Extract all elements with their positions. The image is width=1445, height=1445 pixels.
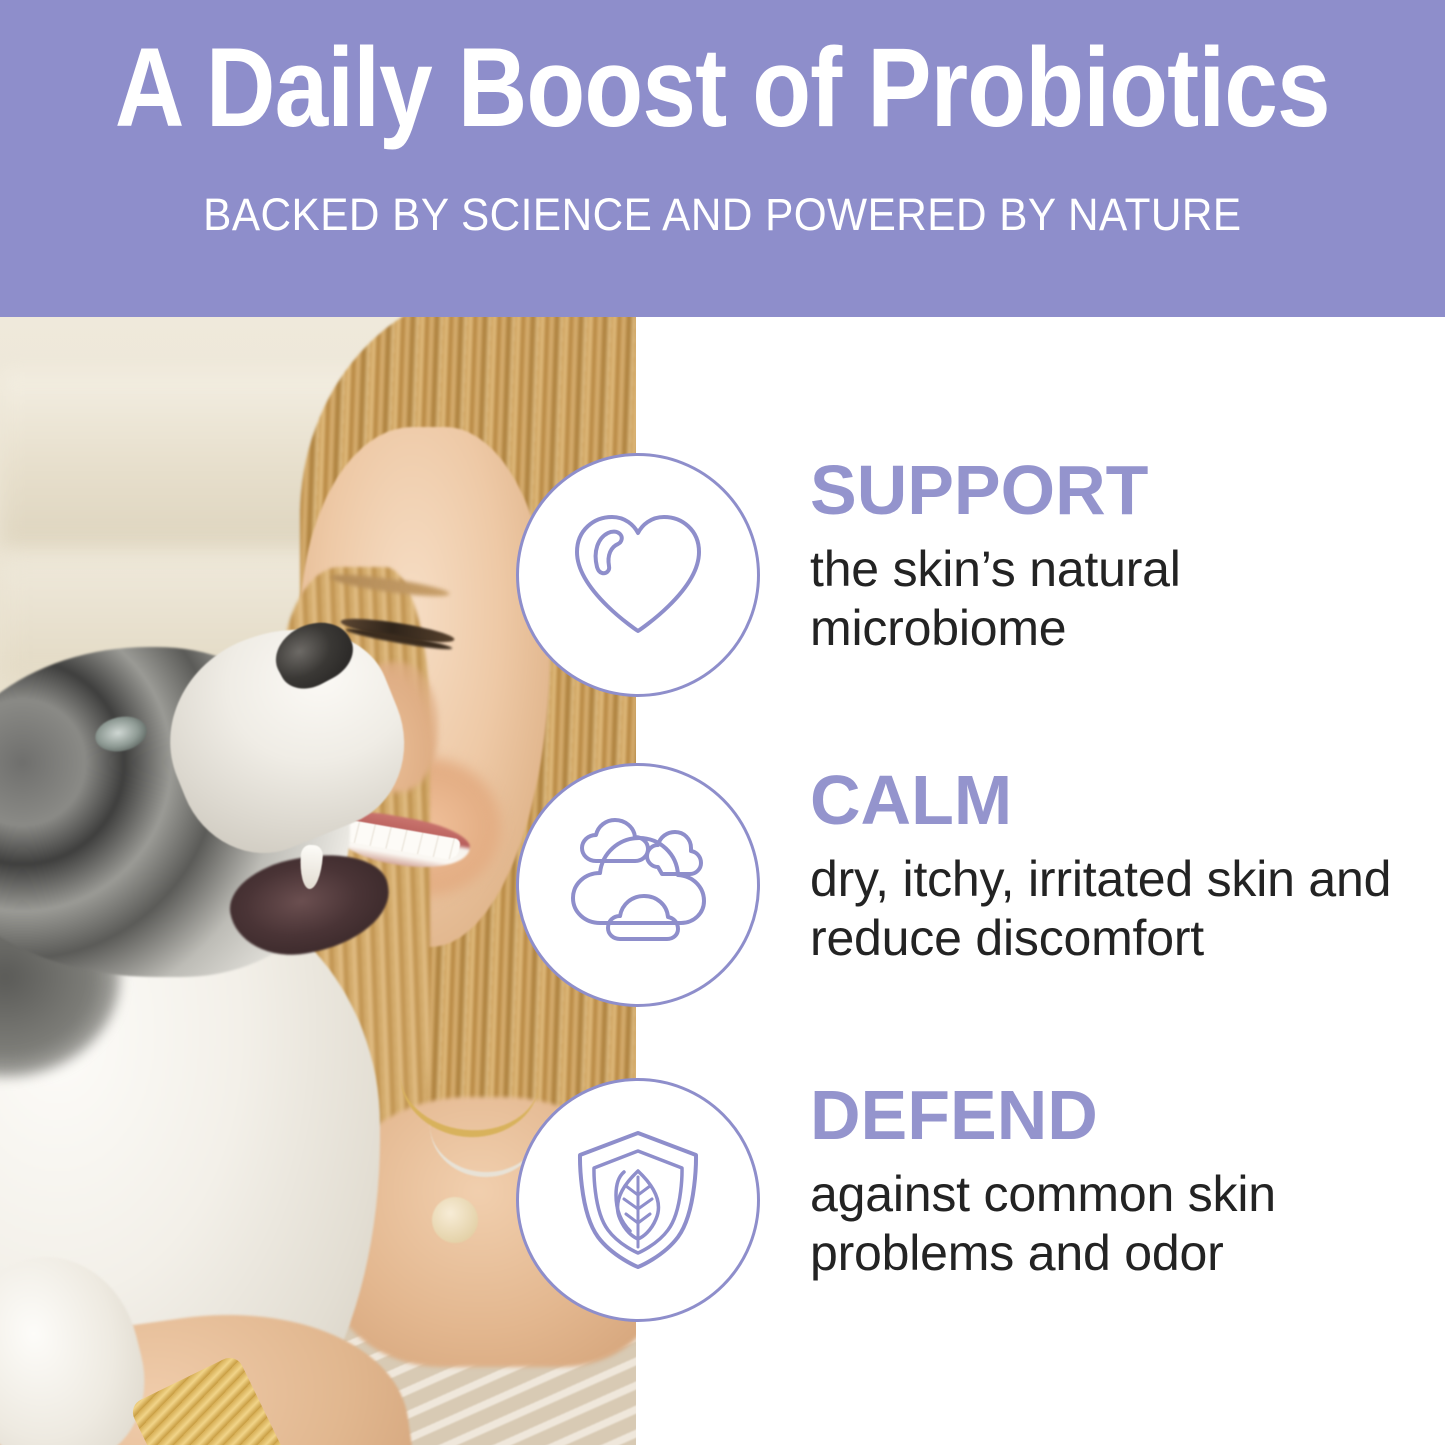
feature-title: CALM bbox=[810, 765, 1410, 836]
feature-title: SUPPORT bbox=[810, 455, 1410, 526]
promo-infographic: A Daily Boost of Probiotics BACKED BY SC… bbox=[0, 0, 1445, 1445]
feature-icon-circle bbox=[516, 763, 760, 1007]
feature-text-block: SUPPORT the skin’s natural microbiome bbox=[810, 453, 1410, 658]
page-title: A Daily Boost of Probiotics bbox=[115, 32, 1330, 144]
feature-title: DEFEND bbox=[810, 1080, 1410, 1151]
feature-description: the skin’s natural microbiome bbox=[810, 540, 1410, 658]
page-subtitle: BACKED BY SCIENCE AND POWERED BY NATURE bbox=[203, 192, 1241, 237]
feature-item-support: SUPPORT the skin’s natural microbiome bbox=[516, 453, 1416, 697]
feature-text-block: DEFEND against common skin problems and … bbox=[810, 1078, 1410, 1283]
feature-list: SUPPORT the skin’s natural microbiome bbox=[0, 317, 1445, 1445]
feature-text-block: CALM dry, itchy, irritated skin and redu… bbox=[810, 763, 1410, 968]
feature-description: dry, itchy, irritated skin and reduce di… bbox=[810, 850, 1410, 968]
clouds-icon bbox=[558, 815, 718, 955]
feature-item-calm: CALM dry, itchy, irritated skin and redu… bbox=[516, 763, 1416, 1007]
feature-icon-circle bbox=[516, 453, 760, 697]
heart-icon bbox=[563, 505, 713, 645]
header-banner: A Daily Boost of Probiotics BACKED BY SC… bbox=[0, 0, 1445, 317]
feature-icon-circle bbox=[516, 1078, 760, 1322]
feature-description: against common skin problems and odor bbox=[810, 1165, 1410, 1283]
shield-leaf-icon bbox=[563, 1125, 713, 1275]
feature-item-defend: DEFEND against common skin problems and … bbox=[516, 1078, 1416, 1322]
